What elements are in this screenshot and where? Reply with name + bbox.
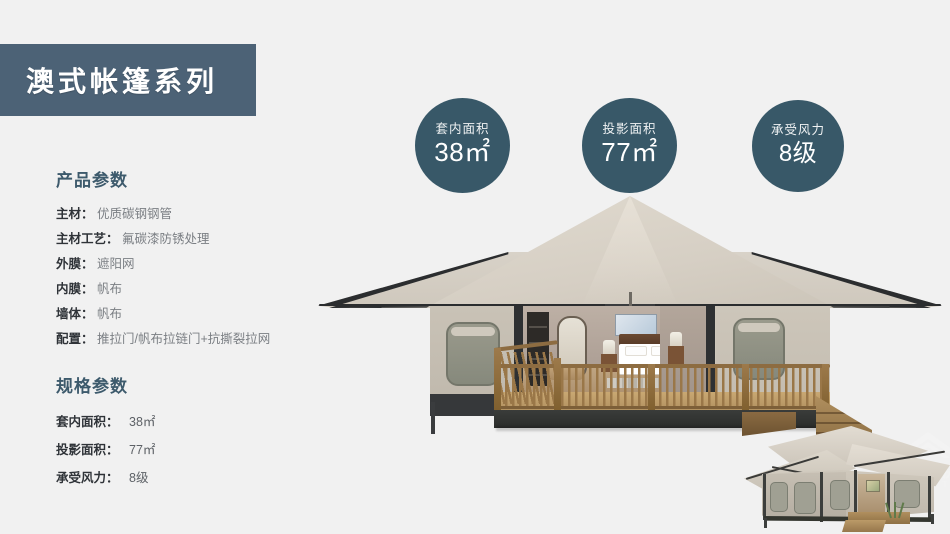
- spec-param-row: 套内面积： 38㎡: [56, 408, 155, 436]
- stat-badge-value: 8级: [779, 140, 817, 168]
- interior-wall-art: [615, 314, 657, 336]
- product-param-row: 配置： 推拉门/帆布拉链门+抗撕裂拉网: [56, 327, 270, 352]
- deck-railing-front-cap: [496, 364, 830, 368]
- product-param-label: 配置：: [56, 332, 94, 346]
- interior-lamp-right: [670, 332, 682, 346]
- product-param-value: 帆布: [97, 307, 122, 321]
- small-tent-frame-column: [928, 476, 931, 518]
- product-parameters-heading: 产品参数: [56, 166, 270, 191]
- stat-badge-label: 投影面积: [602, 123, 656, 137]
- product-param-value: 推拉门/帆布拉链门+抗撕裂拉网: [97, 332, 270, 346]
- product-param-value: 帆布: [97, 282, 122, 296]
- spec-param-value: 8级: [122, 471, 148, 485]
- deck-railing-front: [498, 368, 828, 408]
- spec-param-label: 投影面积：: [56, 443, 119, 457]
- spec-param-label: 套内面积：: [56, 415, 119, 429]
- product-param-row: 主材： 优质碳钢钢管: [56, 202, 270, 227]
- spec-param-row: 投影面积： 77㎡: [56, 436, 155, 464]
- railing-post: [648, 364, 655, 410]
- main-tent-stair-overlap: [742, 412, 796, 436]
- product-param-label: 墙体：: [56, 307, 94, 321]
- small-tent-frame-column: [820, 472, 823, 522]
- interior-nightstand-right: [668, 346, 684, 364]
- interior-pillow: [625, 346, 647, 356]
- interior-lamp: [603, 340, 615, 354]
- small-tent-leg: [764, 518, 767, 528]
- stat-badge-wind-resistance: 承受风力 8级: [752, 100, 844, 192]
- spec-parameters-section: 规格参数 套内面积： 38㎡ 投影面积： 77㎡ 承受风力： 8级: [56, 372, 155, 492]
- product-param-value: 遮阳网: [97, 257, 135, 271]
- product-param-label: 主材工艺：: [56, 232, 119, 246]
- secondary-tent-illustration: [742, 424, 950, 534]
- product-param-row: 外膜： 遮阳网: [56, 252, 270, 277]
- spec-parameters-heading: 规格参数: [56, 372, 155, 397]
- small-tent-window: [794, 482, 816, 514]
- stat-badge-label: 承受风力: [771, 124, 825, 138]
- stat-badge-label: 套内面积: [435, 123, 489, 137]
- small-tent-plant: [888, 500, 902, 518]
- product-param-value: 氟碳漆防锈处理: [122, 232, 210, 246]
- railing-post: [742, 364, 749, 410]
- small-tent-window: [830, 480, 850, 510]
- railing-post: [554, 358, 561, 410]
- series-title-banner: 澳式帐篷系列: [0, 44, 256, 116]
- small-tent-door-art: [866, 480, 880, 492]
- main-tent-illustration: 喜帐营房 XIZHANG TENT: [318, 196, 942, 451]
- product-param-label: 主材：: [56, 207, 94, 221]
- spec-param-value: 77㎡: [122, 443, 155, 457]
- product-param-value: 优质碳钢钢管: [97, 207, 172, 221]
- series-title-text: 澳式帐篷系列: [0, 60, 218, 100]
- product-param-row: 墙体： 帆布: [56, 302, 270, 327]
- small-tent-stairs: [842, 520, 886, 532]
- tent-left-leg: [431, 402, 435, 434]
- stat-badge-interior-area: 套内面积 38㎡: [415, 98, 510, 193]
- deck-railing-front-rail: [498, 406, 828, 409]
- stat-badge-value: 77㎡: [601, 138, 657, 168]
- product-parameters-section: 产品参数 主材： 优质碳钢钢管 主材工艺： 氟碳漆防锈处理 外膜： 遮阳网 内膜…: [56, 166, 270, 352]
- small-tent-frame-column: [854, 470, 857, 518]
- spec-param-row: 承受风力： 8级: [56, 464, 155, 492]
- railing-post: [494, 348, 501, 410]
- small-tent-leg: [931, 514, 934, 524]
- stat-badge-projected-area: 投影面积 77㎡: [582, 98, 677, 193]
- spec-param-label: 承受风力：: [56, 471, 119, 485]
- tent-window-left: [446, 322, 500, 386]
- product-param-label: 内膜：: [56, 282, 94, 296]
- product-param-row: 主材工艺： 氟碳漆防锈处理: [56, 227, 270, 252]
- small-tent-frame-column: [763, 474, 766, 520]
- product-param-row: 内膜： 帆布: [56, 277, 270, 302]
- spec-param-value: 38㎡: [122, 415, 155, 429]
- product-param-label: 外膜：: [56, 257, 94, 271]
- stat-badge-value: 38㎡: [434, 138, 490, 168]
- small-tent-window: [770, 482, 788, 512]
